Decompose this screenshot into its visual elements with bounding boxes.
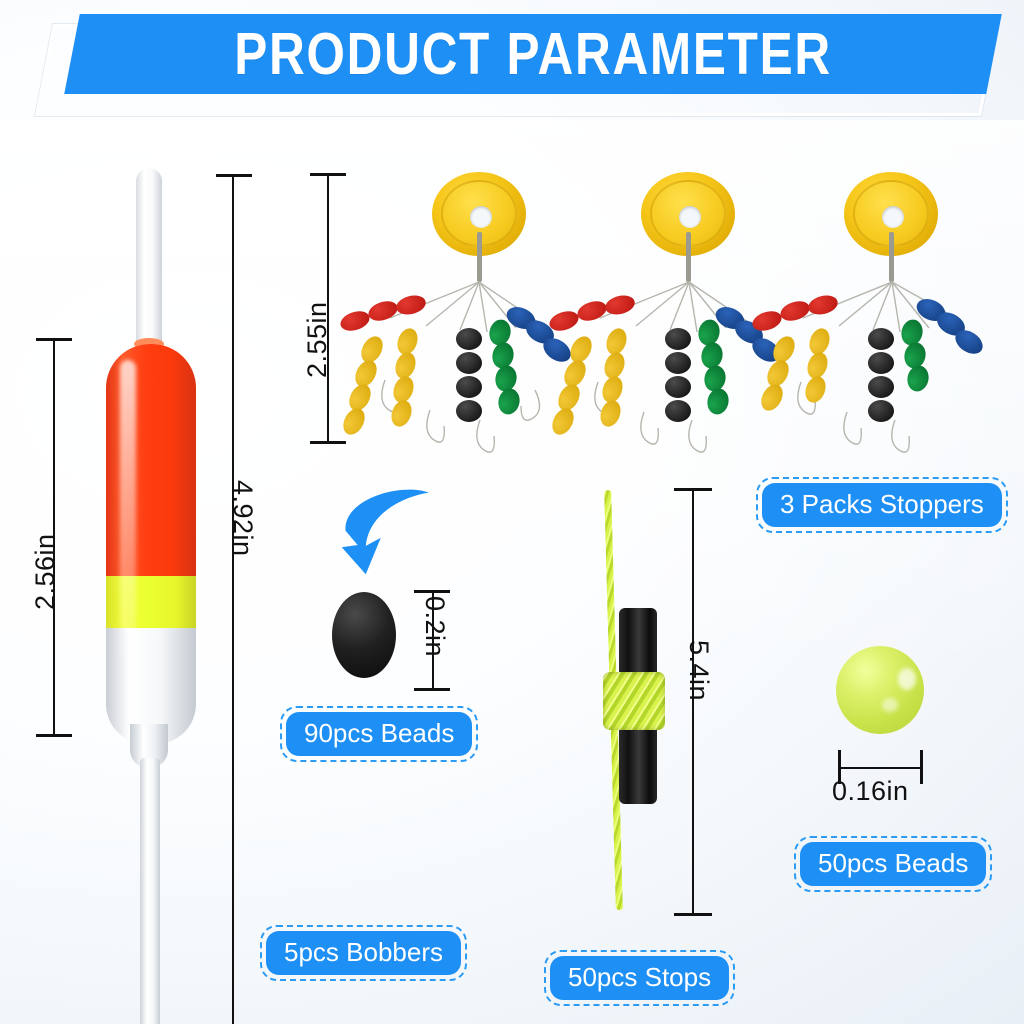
bobber-bottom-stem: [140, 758, 160, 1024]
stopper-bead-black: [868, 328, 894, 350]
stopper-bead-black: [665, 328, 691, 350]
label-text: 90pcs Beads: [286, 712, 472, 756]
label-text: 50pcs Stops: [550, 956, 729, 1000]
stopper-bead-black: [456, 376, 482, 398]
page-title: PRODUCT PARAMETER: [146, 14, 920, 94]
dimension-label-2-55in: 2.55in: [302, 301, 333, 378]
label-text: 50pcs Beads: [800, 842, 986, 886]
dimension-label-4-92in: 4.92in: [227, 480, 258, 557]
stopper-bead-black: [456, 328, 482, 350]
dimension-label-5-4in: 5.4in: [683, 640, 714, 701]
label-50pcs-beads: 50pcs Beads: [794, 836, 992, 892]
stopper-bead-black: [665, 400, 691, 422]
bobber-body: [106, 344, 196, 744]
curved-arrow-icon: [338, 484, 448, 579]
bead-highlight-secondary: [882, 698, 898, 712]
header-banner: PRODUCT PARAMETER: [0, 8, 1024, 116]
stopper-bead-black: [868, 400, 894, 422]
black-oval-bead: [332, 592, 396, 678]
luminous-round-bead: [836, 646, 924, 734]
dimension-label-0-2in: 0.2in: [419, 596, 450, 657]
stopper-disc-hole: [470, 206, 492, 228]
stopper-bead-black: [868, 376, 894, 398]
bobber-gloss-highlight: [120, 360, 136, 660]
product-parameter-infographic: PRODUCT PARAMETER 2.56in 4.92in 2.55in: [0, 0, 1024, 1024]
stopper-bead-black: [456, 352, 482, 374]
label-text: 3 Packs Stoppers: [762, 483, 1002, 527]
stop-line-wrap: [603, 672, 665, 730]
stopper-bead-black: [665, 376, 691, 398]
bead-highlight: [898, 668, 916, 690]
label-90pcs-beads: 90pcs Beads: [280, 706, 478, 762]
label-50pcs-stops: 50pcs Stops: [544, 950, 735, 1006]
stopper-disc-hole: [679, 206, 701, 228]
stopper-disc-hole: [882, 206, 904, 228]
bobber-top-stem: [136, 168, 162, 353]
label-5pcs-bobbers: 5pcs Bobbers: [260, 925, 467, 981]
dimension-label-2-56in: 2.56in: [30, 533, 61, 610]
stopper-bead-black: [868, 352, 894, 374]
bobber-product-image: [100, 168, 228, 1024]
dimension-label-0-16in: 0.16in: [832, 776, 909, 807]
label-text: 5pcs Bobbers: [266, 931, 461, 975]
stopper-bead-black: [456, 400, 482, 422]
label-3-packs-stoppers: 3 Packs Stoppers: [756, 477, 1008, 533]
stopper-bead-black: [665, 352, 691, 374]
